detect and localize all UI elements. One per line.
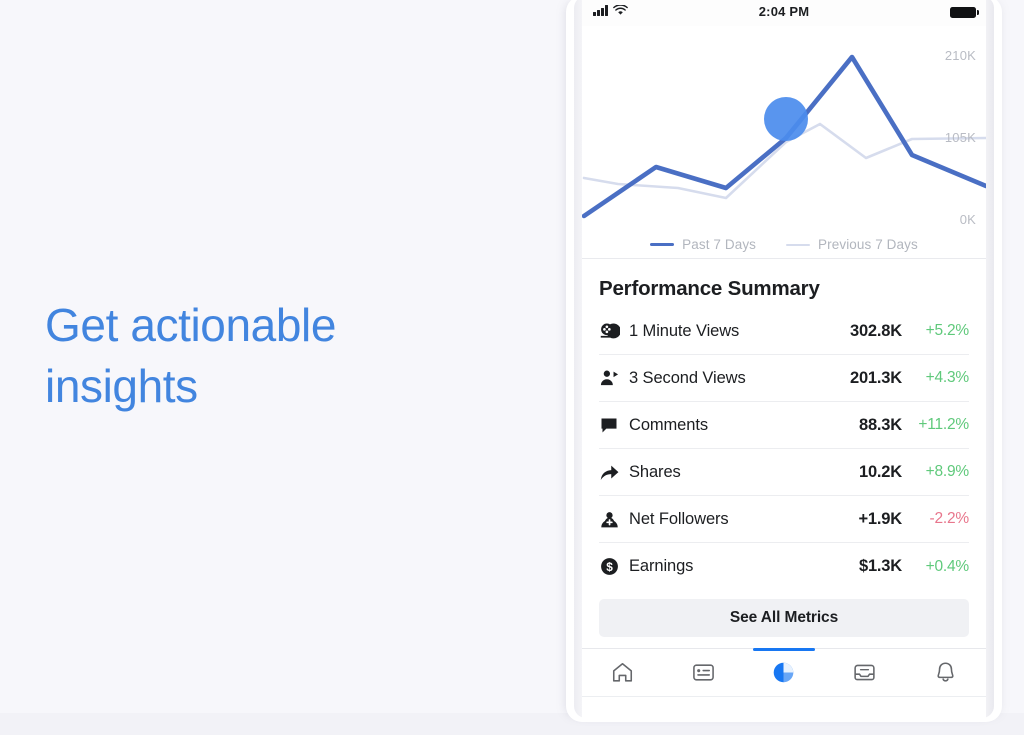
summary-title: Performance Summary <box>599 277 969 301</box>
legend-swatch-previous-icon <box>786 244 810 246</box>
legend-label-past: Past 7 Days <box>682 237 756 252</box>
legend-swatch-past-icon <box>650 243 674 247</box>
chart-ytick-1: 105K <box>945 130 976 145</box>
status-bar-right <box>950 7 976 18</box>
legend-item-previous[interactable]: Previous 7 Days <box>786 237 918 252</box>
add-follower-icon <box>599 509 629 530</box>
legend-label-previous: Previous 7 Days <box>818 237 918 252</box>
metric-row-earnings[interactable]: $ Earnings $1.3K +0.4% <box>599 543 969 590</box>
pages-icon <box>691 660 716 685</box>
tab-notifications[interactable] <box>905 649 986 696</box>
tab-bar-home-indicator-area <box>582 696 986 714</box>
metric-label: Shares <box>629 463 859 482</box>
tab-home[interactable] <box>582 649 663 696</box>
chart-legend: Past 7 Days Previous 7 Days <box>582 237 986 252</box>
metric-delta: +8.9% <box>911 463 969 481</box>
tab-inbox[interactable] <box>824 649 905 696</box>
tab-insights[interactable] <box>744 649 825 696</box>
metric-label: Earnings <box>629 557 859 576</box>
share-arrow-icon <box>599 462 629 483</box>
metric-delta: +5.2% <box>911 322 969 340</box>
bell-icon <box>933 660 958 685</box>
person-play-icon <box>599 368 629 389</box>
inbox-tray-icon <box>852 660 877 685</box>
metric-delta: -2.2% <box>911 510 969 528</box>
metric-row-net-followers[interactable]: Net Followers +1.9K -2.2% <box>599 496 969 543</box>
see-all-metrics-container: See All Metrics <box>582 590 986 648</box>
tab-pages[interactable] <box>663 649 744 696</box>
headline-line-2: insights <box>45 356 525 417</box>
chart-ytick-0: 210K <box>945 48 976 63</box>
metric-label: 3 Second Views <box>629 369 850 388</box>
metric-delta: +0.4% <box>911 558 969 576</box>
page-title: Get actionable insights <box>45 295 525 416</box>
tab-active-indicator <box>753 648 815 651</box>
metric-row-1-minute-views[interactable]: 1 Minute Views 302.8K +5.2% <box>599 308 969 355</box>
status-bar: 2:04 PM <box>582 0 986 26</box>
metric-label: 1 Minute Views <box>629 322 850 341</box>
comment-bubble-icon <box>599 415 629 435</box>
metric-value: 302.8K <box>850 322 902 341</box>
slide-canvas: Get actionable insights 2:04 PM <box>0 0 1024 735</box>
chart-plot <box>582 26 986 258</box>
metric-value: 10.2K <box>859 463 902 482</box>
see-all-metrics-button[interactable]: See All Metrics <box>599 599 969 637</box>
metric-delta: +11.2% <box>911 416 969 434</box>
battery-full-icon <box>950 7 976 18</box>
metric-label: Comments <box>629 416 859 435</box>
tab-bar <box>582 648 986 696</box>
phone-screen: 2:04 PM 210K 105K 0K Past 7 Days <box>582 0 986 718</box>
performance-summary: Performance Summary 1 Minute Views 302.8… <box>582 259 986 590</box>
chart-highlight-point[interactable] <box>764 97 808 141</box>
metric-row-comments[interactable]: Comments 88.3K +11.2% <box>599 402 969 449</box>
insights-pie-icon <box>771 660 796 685</box>
status-bar-time: 2:04 PM <box>582 4 986 19</box>
metric-value: +1.9K <box>859 510 903 529</box>
metric-row-shares[interactable]: Shares 10.2K +8.9% <box>599 449 969 496</box>
metric-label: Net Followers <box>629 510 859 529</box>
chart-ytick-2: 0K <box>960 212 976 227</box>
metric-delta: +4.3% <box>911 369 969 387</box>
dollar-circle-icon: $ <box>599 556 629 577</box>
svg-text:$: $ <box>606 560 613 574</box>
insights-chart[interactable]: 210K 105K 0K Past 7 Days Previous 7 Days <box>582 26 986 258</box>
metric-value: 201.3K <box>850 369 902 388</box>
legend-item-past[interactable]: Past 7 Days <box>650 237 756 252</box>
metric-value: 88.3K <box>859 416 902 435</box>
headline-line-1: Get actionable <box>45 299 336 351</box>
film-reel-icon <box>599 321 629 342</box>
home-icon <box>610 660 635 685</box>
metric-row-3-second-views[interactable]: 3 Second Views 201.3K +4.3% <box>599 355 969 402</box>
metric-value: $1.3K <box>859 557 902 576</box>
